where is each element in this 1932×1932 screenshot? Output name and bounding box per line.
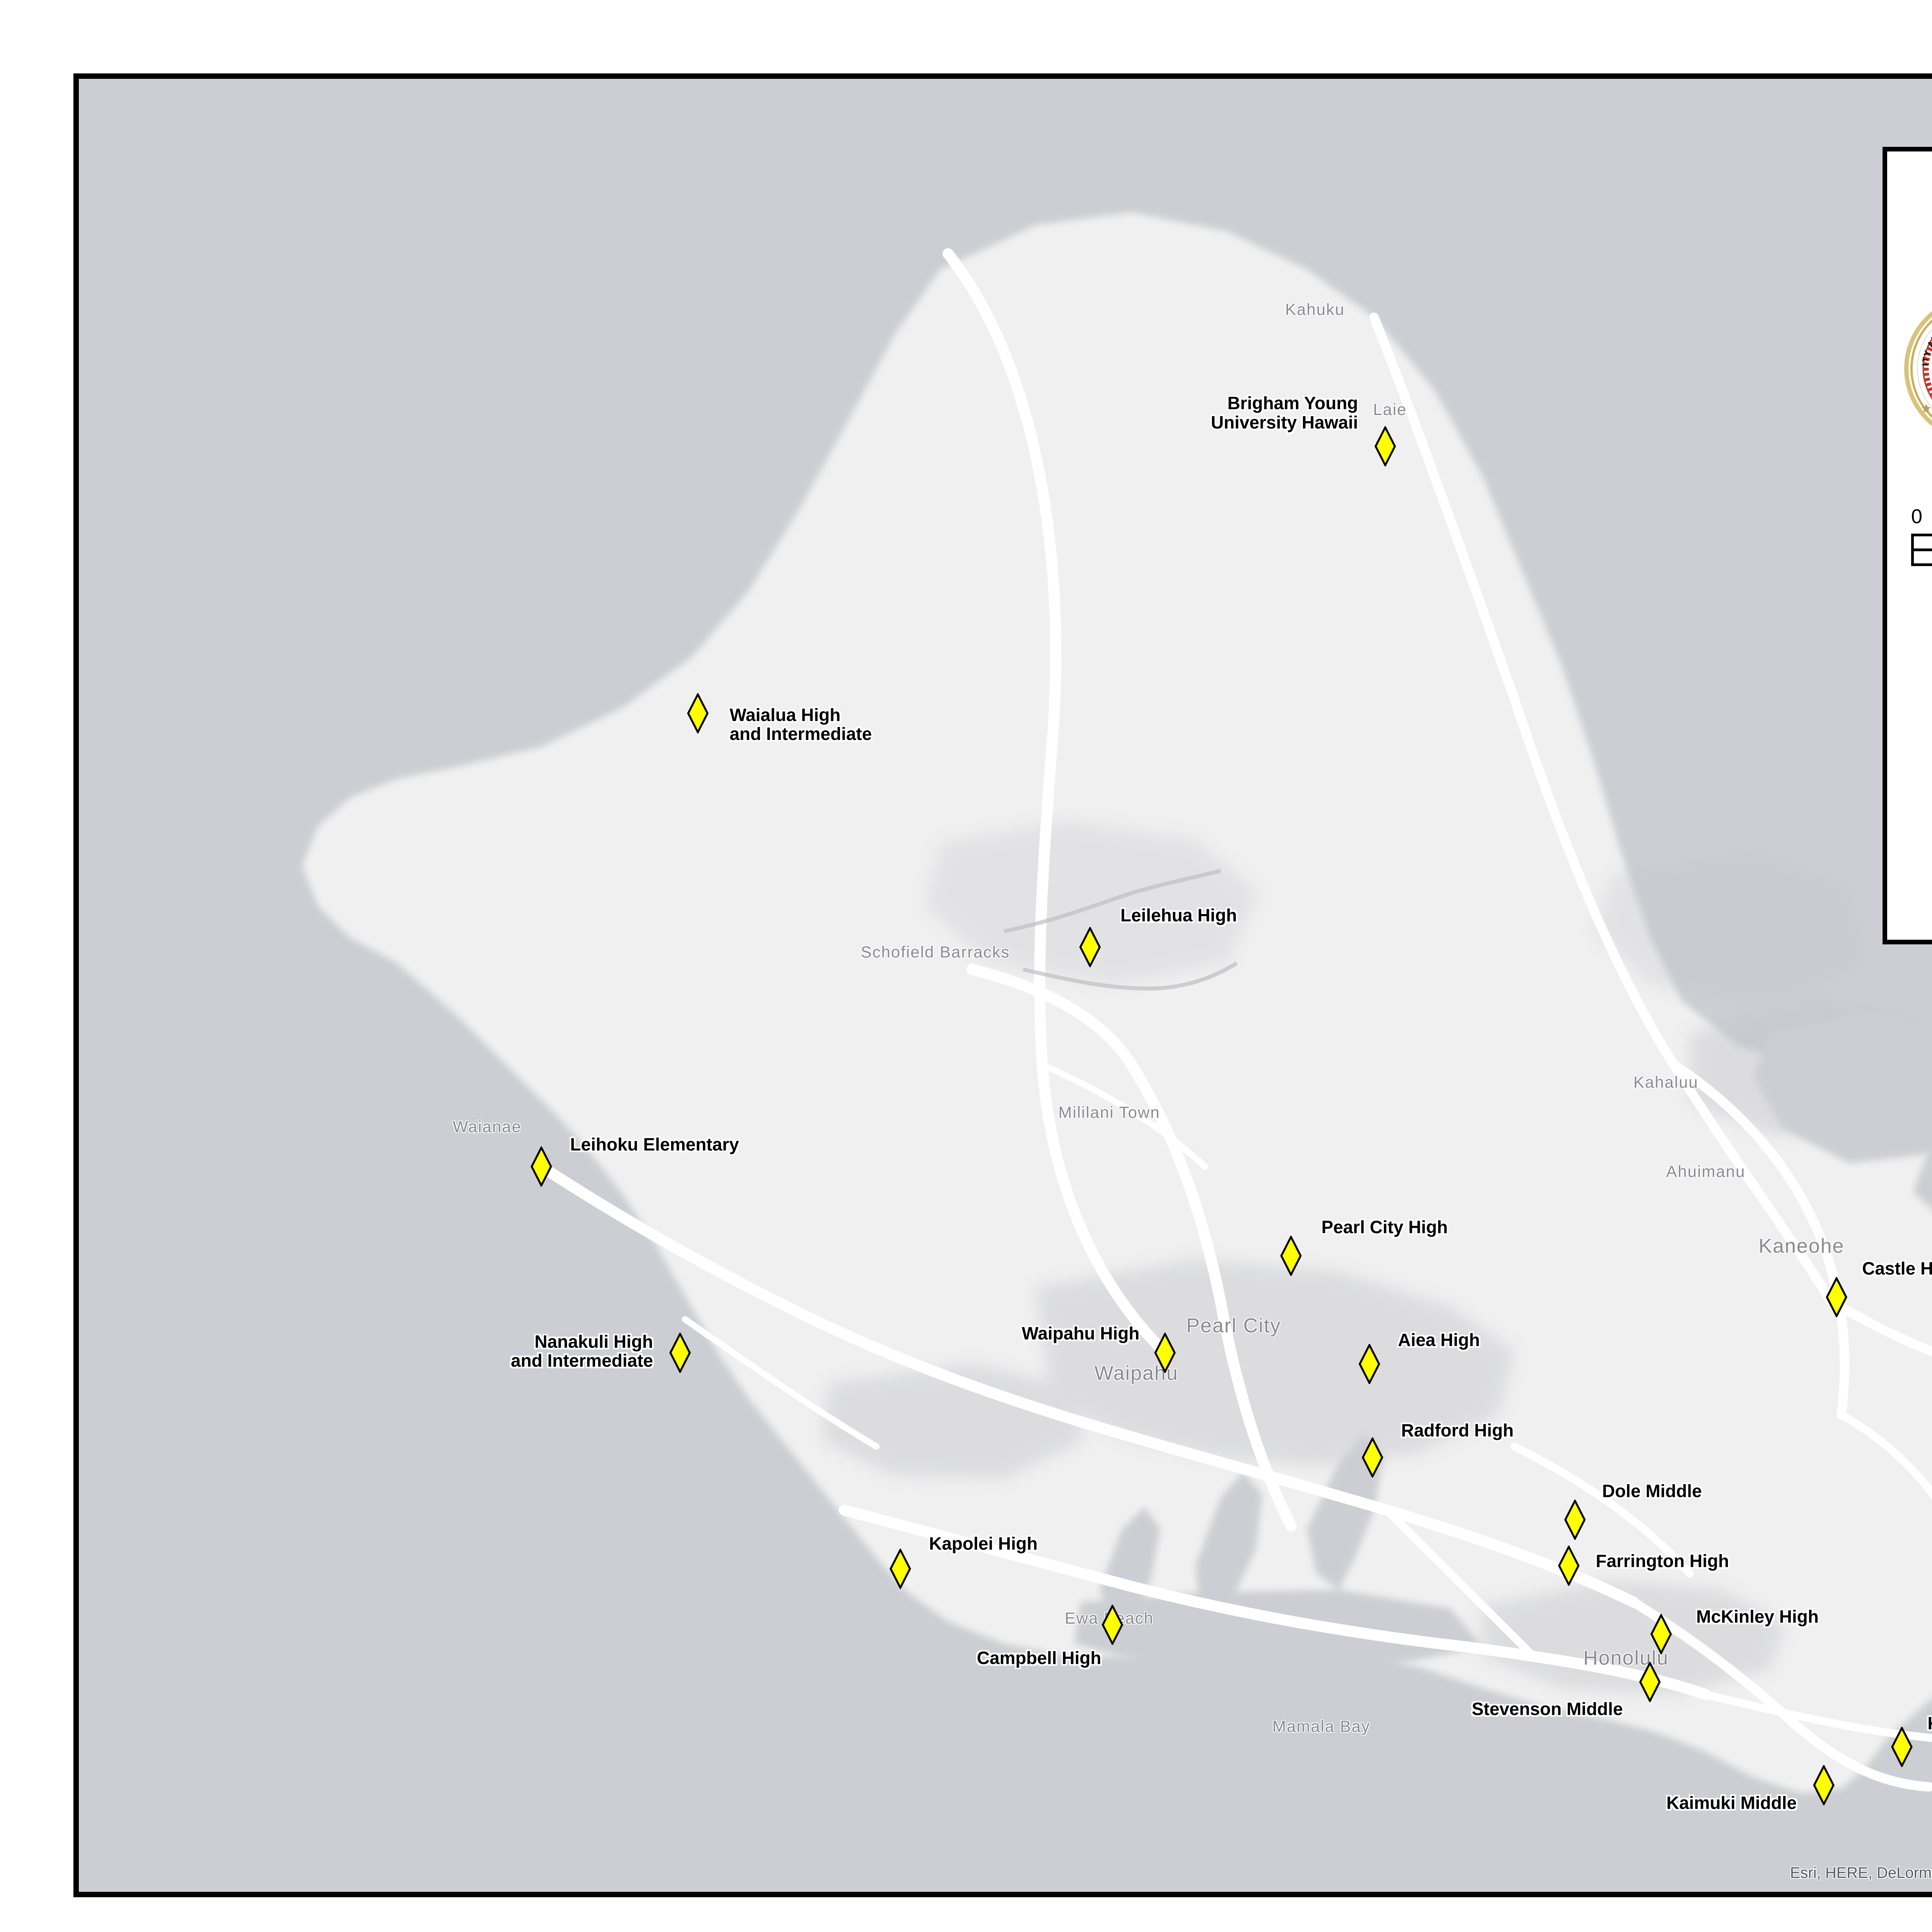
legend-title: Hurricane Lane Shelter Locations <box>1887 171 1932 278</box>
place-label: Kahaluu <box>1633 1073 1698 1092</box>
shelter-marker-diamond-icon[interactable] <box>531 1146 552 1187</box>
shelter-label: Kaimuki Middle <box>1666 1793 1796 1812</box>
shelter-label: Brigham Young University Hawaii <box>1211 394 1358 432</box>
place-label: Laie <box>1373 400 1407 419</box>
shelter-label: Kalani High <box>1927 1714 1932 1733</box>
place-label: Waianae <box>453 1117 522 1136</box>
shelter-marker-diamond-icon[interactable] <box>889 1549 911 1589</box>
shelter-label: Leilehua High <box>1121 906 1237 925</box>
shelter-label: Pearl City High <box>1321 1218 1448 1236</box>
place-label: Ahuimanu <box>1666 1162 1745 1181</box>
scale-bar-graphic <box>1911 534 1932 566</box>
shelter-label: Castle High <box>1862 1259 1932 1278</box>
scale-tick: 0 <box>1911 505 1922 528</box>
shelter-label: Waialua High and Intermediate <box>730 706 872 743</box>
shelter-marker-diamond-icon[interactable] <box>1891 1727 1913 1767</box>
shelter-marker-diamond-icon[interactable] <box>1280 1236 1302 1276</box>
place-label: Kaneohe <box>1759 1235 1844 1258</box>
scale-unit-label: Miles <box>1911 568 1932 594</box>
legend-title-line1: Hurricane Lane <box>1887 171 1932 224</box>
shelter-label: Waipahu High <box>1022 1324 1139 1343</box>
shelter-marker-diamond-icon[interactable] <box>687 693 709 733</box>
shelter-marker-diamond-icon[interactable] <box>1650 1614 1672 1654</box>
shelter-label: McKinley High <box>1696 1607 1819 1626</box>
shelter-label: Farrington High <box>1596 1551 1729 1570</box>
legend-title-line2: Shelter Locations <box>1887 224 1932 278</box>
city-county-seal-icon: CITY AND COUNTY OF HONOLULU STATE OF HAW… <box>1904 295 1932 442</box>
place-label: Mamala Bay <box>1272 1717 1370 1736</box>
legend-panel: Hurricane Lane Shelter Locations <box>1883 147 1932 944</box>
shelter-marker-diamond-icon[interactable] <box>669 1333 691 1373</box>
place-label: Kahuku <box>1285 300 1345 319</box>
shelter-marker-diamond-icon[interactable] <box>1564 1500 1586 1540</box>
shelter-label: Aiea High <box>1398 1330 1480 1349</box>
shelter-label: Nanakuli High and Intermediate <box>511 1332 653 1370</box>
place-label: Schofield Barracks <box>861 943 1010 961</box>
shelter-marker-diamond-icon[interactable] <box>1079 927 1101 967</box>
shelter-label: Radford High <box>1401 1421 1514 1440</box>
shelter-marker-diamond-icon[interactable] <box>1154 1333 1176 1373</box>
shelter-marker-diamond-icon[interactable] <box>1102 1605 1123 1645</box>
map-frame: KahukuLaieSchofield BarracksMililani Tow… <box>73 73 1932 1897</box>
shelter-marker-diamond-icon[interactable] <box>1639 1662 1661 1702</box>
shelter-marker-diamond-icon[interactable] <box>1558 1546 1580 1586</box>
shelter-label: Campbell High <box>977 1648 1101 1667</box>
shelter-marker-diamond-icon[interactable] <box>1374 426 1396 466</box>
shelter-label: Leihoku Elementary <box>570 1135 739 1154</box>
map-attribution: Esri, HERE, DeLorme, MapmyIndia, © OpenS… <box>1790 1864 1932 1882</box>
shelter-label: Stevenson Middle <box>1472 1699 1623 1718</box>
place-label: Pearl City <box>1186 1314 1281 1337</box>
shelter-marker-diamond-icon[interactable] <box>1813 1765 1835 1805</box>
shelter-marker-diamond-icon[interactable] <box>1362 1437 1383 1478</box>
scale-tick-labels: 0123456 <box>1911 505 1932 528</box>
shelter-label: Dole Middle <box>1602 1481 1702 1500</box>
place-label: Mililani Town <box>1058 1103 1160 1122</box>
shelter-label: Kapolei High <box>929 1534 1037 1553</box>
shelter-marker-diamond-icon[interactable] <box>1359 1344 1380 1384</box>
scale-bar: 0123456 Miles <box>1911 505 1932 594</box>
shelter-marker-diamond-icon[interactable] <box>1826 1277 1847 1317</box>
